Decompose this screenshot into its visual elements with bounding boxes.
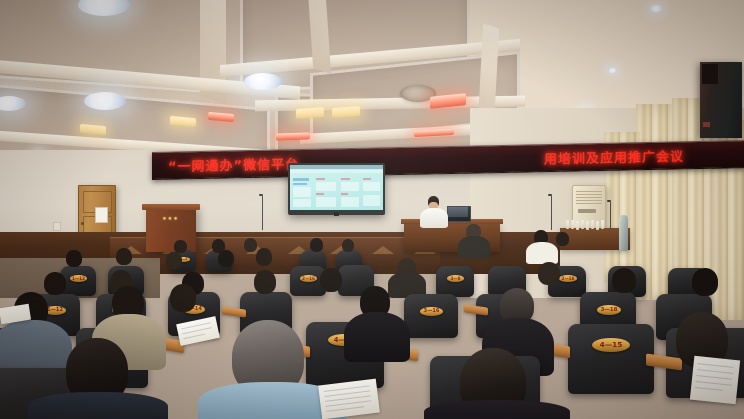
attendee-head [116,248,132,265]
attendee-head [44,272,66,295]
wall-switch-plate[interactable] [53,222,61,231]
ceiling-panel-light [332,106,360,118]
banner-text-right: 用培训及应用推广会议 [544,146,684,168]
attendee-body [28,392,168,419]
speaker-podium [146,206,196,252]
ceiling-dome-light [244,73,282,90]
attendee-head [254,270,276,294]
water-bottle [591,220,594,229]
projection-screen-frame [288,163,385,215]
attendee-head [310,238,323,252]
attendee-head [218,250,234,267]
attendee-head [612,268,636,293]
ceiling-panel-light [296,107,324,119]
microphone-icon [259,194,263,196]
podium-top [142,204,200,210]
conference-room-photo: “一网通办”微信平台 用培训及应用推广会议 [0,0,744,419]
attendee-head [256,248,272,266]
microphone-stand [610,202,611,230]
air-conditioner-badge [578,209,596,213]
laptop-screen [448,207,468,217]
microphone-icon [548,194,552,196]
podium-plaque: ●●● [155,216,187,224]
attendee-head [244,238,257,252]
handout-paper[interactable] [690,356,740,405]
water-bottle [586,221,589,230]
attendee-body [458,236,490,258]
water-bottle [576,221,579,230]
attendee-body [344,312,410,362]
attendee-body [526,242,558,264]
projection-screen-stand [334,212,339,216]
water-bottle [571,220,574,229]
microphone-stand [262,196,263,230]
projection-screen[interactable] [290,165,383,210]
handout-paper[interactable] [318,379,380,419]
wall-speaker-badge [703,122,710,127]
water-bottle [581,220,584,229]
attendee-head [174,240,187,253]
water-bottle [566,220,569,229]
water-dispenser-bottle [619,215,628,251]
attendee-head [320,268,342,292]
attendee-head [538,262,560,285]
ceiling-dome-light [84,92,126,110]
door-sign [95,207,108,223]
attendee-head [66,250,82,267]
attendee-head [556,232,569,246]
water-bottle [601,220,604,229]
seat[interactable]: 4—15 [568,324,654,394]
microphone-stand [551,196,552,230]
attendee-head [166,252,182,269]
attendee-body [424,400,570,419]
attendee-head [170,284,196,312]
ceiling-panel-light [276,132,310,140]
attendee-head [342,239,354,252]
banner-text-left: “一网通办”微信平台 [168,154,299,176]
door-knob-icon[interactable] [81,222,84,225]
microphone-icon [607,200,611,202]
water-bottle [596,221,599,230]
recessed-downlight [650,5,662,12]
recessed-downlight [608,68,617,73]
presenter-body [420,208,448,228]
wall-speaker-horn [702,64,718,84]
attendee-head [692,268,718,296]
